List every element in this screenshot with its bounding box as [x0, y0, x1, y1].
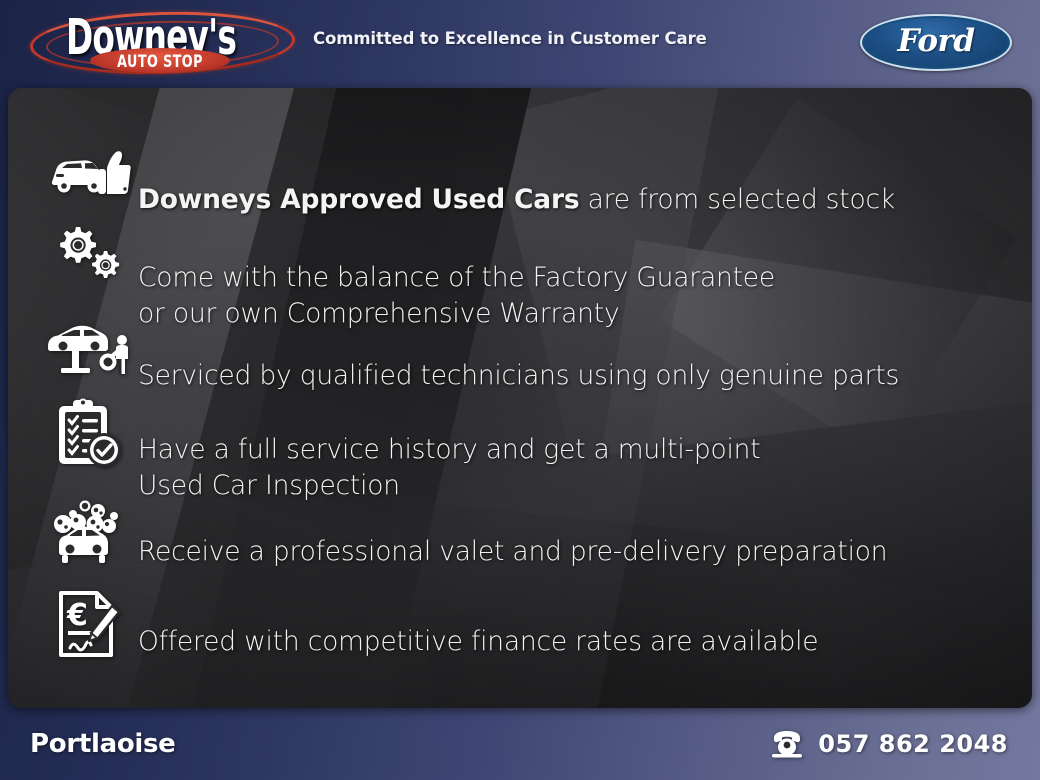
feature-text-rest: Offered with competitive finance rates a…: [138, 626, 818, 657]
list-item: Receive a professional valet and pre-del…: [42, 498, 887, 570]
ford-wordmark: Ford: [860, 14, 1012, 71]
feature-text: Receive a professional valet and pre-del…: [138, 498, 887, 570]
list-item: Serviced by qualified technicians using …: [42, 322, 899, 394]
features-panel: Downeys Approved Used Cars are from sele…: [8, 88, 1032, 708]
footer-phone[interactable]: 057 862 2048: [770, 730, 1008, 758]
feature-list: Downeys Approved Used Cars are from sele…: [8, 88, 1032, 708]
car-wash-icon: [42, 498, 138, 566]
feature-text-rest: Serviced by qualified technicians using …: [138, 360, 899, 391]
footer-phone-number: 057 862 2048: [818, 730, 1008, 758]
gears-icon: [42, 224, 138, 284]
feature-text-rest: are from selected stock: [579, 184, 895, 215]
clipboard-checklist-icon: [42, 396, 138, 468]
svg-text:€: €: [66, 598, 88, 633]
feature-text-rest: Have a full service history and get a mu…: [138, 434, 760, 501]
downeys-auto-stop-logo[interactable]: Downey's AUTO STOP: [30, 4, 295, 84]
list-item: Come with the balance of the Factory Gua…: [42, 224, 775, 332]
list-item: € Offered with competitive finance rates…: [42, 588, 818, 660]
car-thumbs-up-icon: [42, 146, 138, 198]
page-footer: Portlaoise 057 862 2048: [0, 708, 1040, 780]
car-lift-technician-icon: [42, 322, 138, 378]
telephone-icon: [770, 730, 804, 758]
list-item: Have a full service history and get a mu…: [42, 396, 760, 504]
euro-document-pen-icon: €: [42, 588, 138, 658]
feature-text-rest: Receive a professional valet and pre-del…: [138, 536, 887, 567]
ford-oval-logo[interactable]: Ford: [860, 14, 1012, 71]
feature-text-rest: Come with the balance of the Factory Gua…: [138, 262, 775, 329]
feature-text: Serviced by qualified technicians using …: [138, 322, 899, 394]
header-tagline: Committed to Excellence in Customer Care: [313, 29, 707, 48]
feature-text: Downeys Approved Used Cars are from sele…: [138, 146, 895, 218]
list-item: Downeys Approved Used Cars are from sele…: [42, 146, 895, 218]
feature-text: Come with the balance of the Factory Gua…: [138, 224, 775, 332]
page-header: Downey's AUTO STOP Committed to Excellen…: [0, 0, 1040, 88]
feature-text-emphasis: Downeys Approved Used Cars: [138, 184, 579, 215]
logo-brand-subtitle: AUTO STOP: [101, 51, 220, 72]
footer-location: Portlaoise: [30, 729, 176, 759]
feature-text: Offered with competitive finance rates a…: [138, 588, 818, 660]
feature-text: Have a full service history and get a mu…: [138, 396, 760, 504]
